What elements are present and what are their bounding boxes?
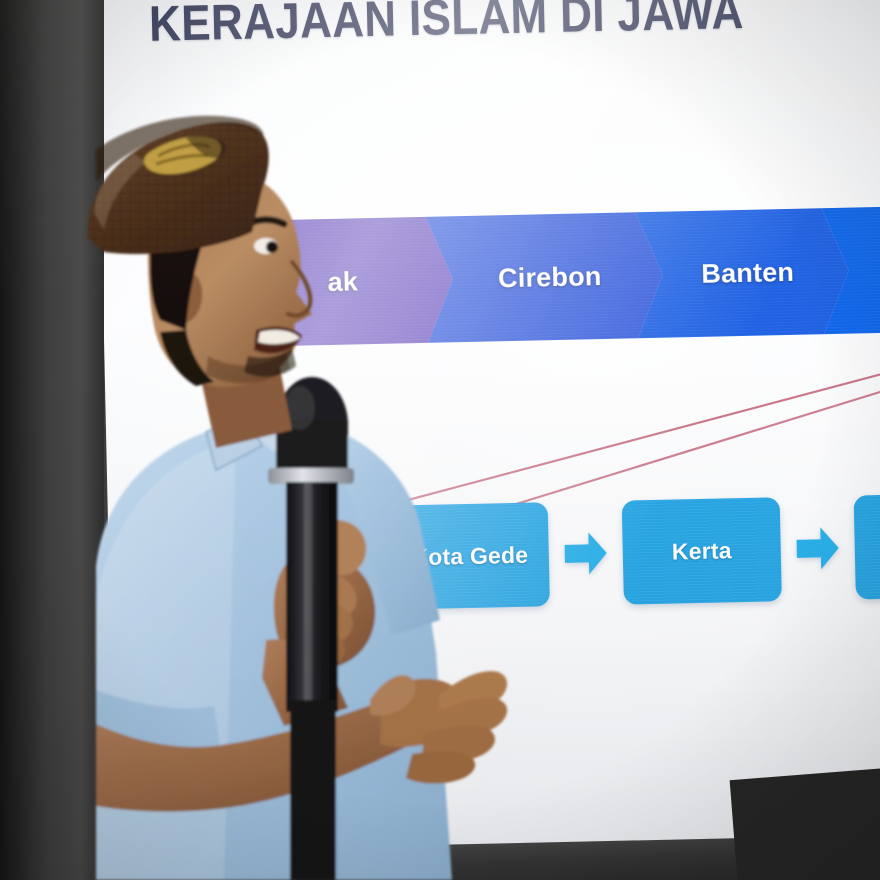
finger [406,751,475,783]
presentation-photo: KERAJAAN ISLAM DI JAWA ak Cirebon Banten… [0,0,880,880]
mic-handle-highlight [304,482,312,712]
mic-handle-bottom [290,700,336,880]
mic-ring [268,468,354,484]
pupil [266,241,278,253]
peci-cap [88,116,269,254]
presenter [0,0,880,880]
presenter-body [88,116,507,880]
